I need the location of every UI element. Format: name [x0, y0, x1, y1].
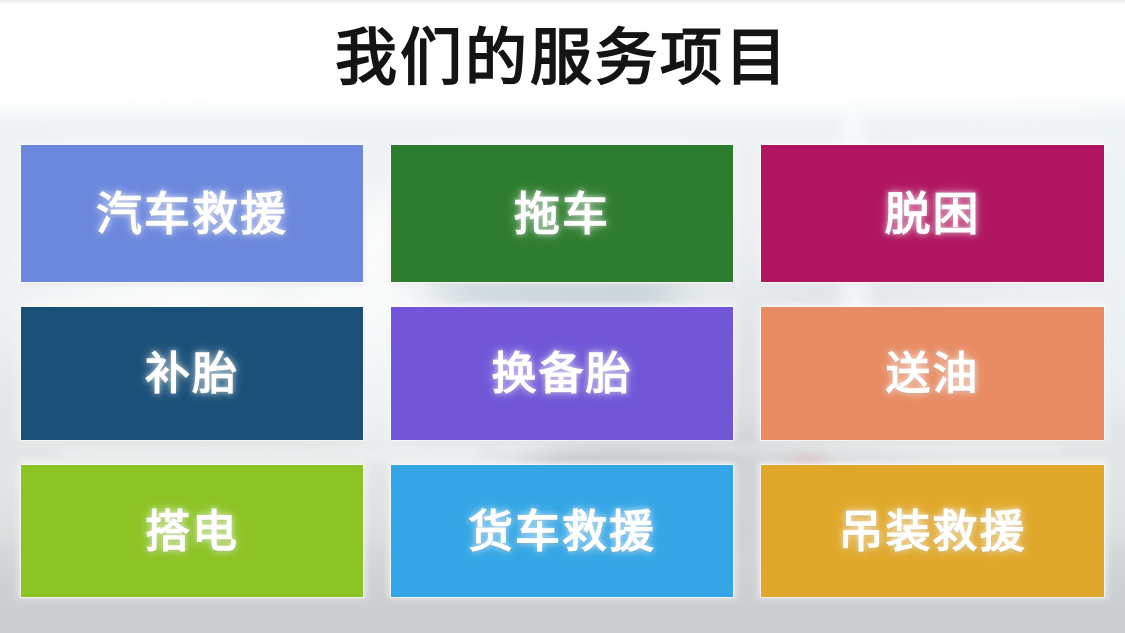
service-tile-fuel-delivery[interactable]: 送油: [761, 307, 1104, 440]
service-tile-label: 汽车救援: [96, 191, 288, 237]
service-tile-label: 脱困: [885, 191, 981, 237]
service-tile-jump-start[interactable]: 搭电: [21, 465, 363, 597]
service-tile-towing[interactable]: 拖车: [391, 145, 733, 282]
service-tile-truck-assistance[interactable]: 货车救援: [391, 465, 733, 597]
service-tile-grid: 汽车救援 拖车 脱困 补胎 换备胎 送油 搭电 货车救援 吊装救援: [21, 145, 1104, 597]
background-top-edge-line: [0, 0, 1125, 4]
service-tile-label: 搭电: [145, 509, 239, 554]
service-tile-spare-tire-change[interactable]: 换备胎: [391, 307, 733, 440]
page-title: 我们的服务项目: [0, 24, 1125, 92]
service-tile-extraction[interactable]: 脱困: [761, 145, 1104, 282]
service-tile-tire-repair[interactable]: 补胎: [21, 307, 363, 440]
service-tile-label: 补胎: [145, 351, 239, 396]
service-menu-page: 我们的服务项目 汽车救援 拖车 脱困 补胎 换备胎 送油 搭电 货车救援: [0, 0, 1125, 633]
service-tile-label: 吊装救援: [838, 509, 1026, 554]
service-tile-crane-rescue[interactable]: 吊装救援: [761, 465, 1104, 597]
service-tile-roadside-assistance[interactable]: 汽车救援: [21, 145, 363, 282]
service-tile-label: 换备胎: [491, 351, 632, 396]
service-tile-label: 送油: [885, 351, 979, 396]
service-tile-label: 拖车: [514, 191, 610, 237]
service-tile-label: 货车救援: [468, 509, 656, 554]
